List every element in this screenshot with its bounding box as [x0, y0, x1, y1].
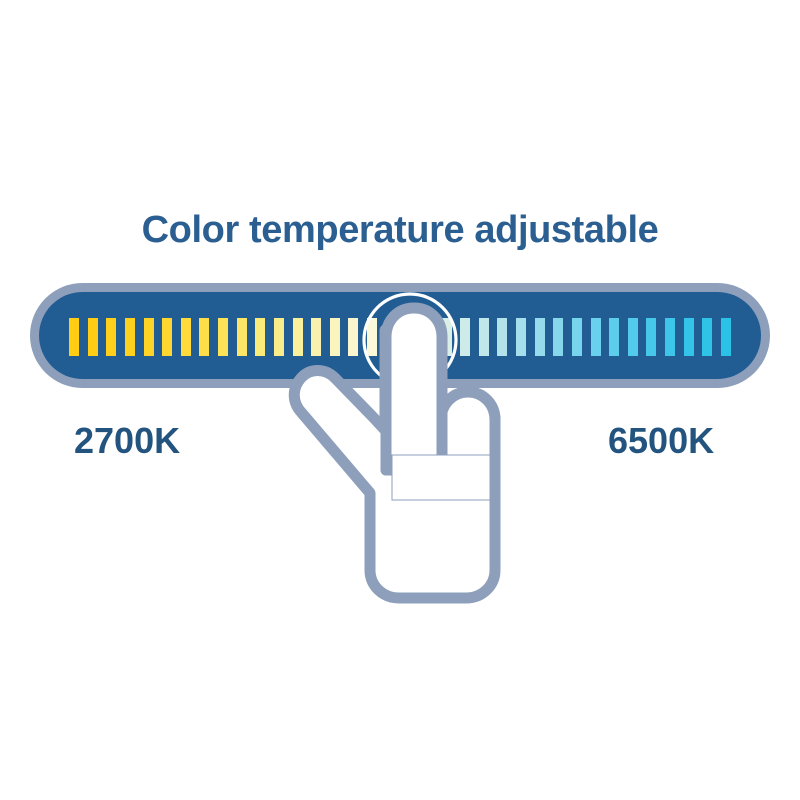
- illustration-canvas: Color temperature adjustable 2700K 6500K: [0, 0, 800, 800]
- slider-bar: [591, 318, 601, 356]
- slider-bar: [721, 318, 731, 356]
- slider-bar: [144, 318, 154, 356]
- hand-finger-ring-path: [441, 392, 495, 482]
- slider-bar: [386, 318, 396, 356]
- slider-bar: [293, 318, 303, 356]
- slider-bar: [181, 318, 191, 356]
- slider-bar: [125, 318, 135, 356]
- slider-gradient-bars: [39, 292, 761, 379]
- slider-bar: [497, 318, 507, 356]
- slider-bar: [255, 318, 265, 356]
- slider-track[interactable]: [39, 292, 761, 379]
- slider-bar: [367, 318, 377, 356]
- touch-ripple: [0, 0, 800, 800]
- slider-bar: [69, 318, 79, 356]
- slider-bar: [460, 318, 470, 356]
- hand-finger-middle-path: [386, 377, 441, 470]
- color-temperature-slider[interactable]: [30, 283, 770, 388]
- slider-min-label: 2700K: [74, 420, 180, 462]
- slider-bar: [88, 318, 98, 356]
- pointing-hand-illustration: [0, 0, 800, 800]
- slider-bar: [442, 318, 452, 356]
- slider-bar: [516, 318, 526, 356]
- slider-bar: [237, 318, 247, 356]
- slider-bar: [535, 318, 545, 356]
- slider-bar: [553, 318, 563, 356]
- slider-bar: [330, 318, 340, 356]
- slider-bar: [665, 318, 675, 356]
- slider-bar: [199, 318, 209, 356]
- slider-bar: [218, 318, 228, 356]
- slider-bar: [609, 318, 619, 356]
- slider-bar: [162, 318, 172, 356]
- slider-bar: [646, 318, 656, 356]
- page-title: Color temperature adjustable: [0, 209, 800, 252]
- slider-bar: [423, 318, 433, 356]
- slider-bar: [702, 318, 712, 356]
- slider-bar: [404, 318, 414, 356]
- slider-bar: [106, 318, 116, 356]
- slider-bar: [684, 318, 694, 356]
- slider-bar: [572, 318, 582, 356]
- slider-max-label: 6500K: [608, 420, 714, 462]
- slider-bar: [479, 318, 489, 356]
- slider-bar: [348, 318, 358, 356]
- slider-bar: [274, 318, 284, 356]
- hand-merge-cover: [392, 455, 490, 500]
- slider-bar: [628, 318, 638, 356]
- slider-bar: [311, 318, 321, 356]
